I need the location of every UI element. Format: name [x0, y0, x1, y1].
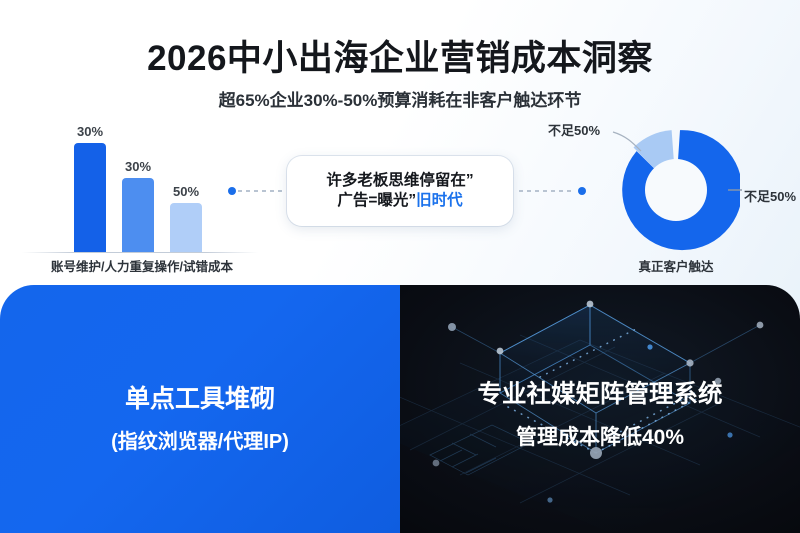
page-subtitle: 超65%企业30%-50%预算消耗在非客户触达环节 — [0, 86, 800, 111]
bar-chart: 30% 30% 50% — [24, 118, 254, 253]
bar-value-1: 30% — [77, 124, 103, 139]
donut-leader-lines — [600, 118, 800, 228]
callout-line-1: 许多老板思维停留在” — [326, 171, 473, 191]
bar-value-2: 30% — [125, 159, 151, 174]
callout-line-2-plain: 广告=曝光” — [337, 192, 416, 209]
callout-card: 许多老板思维停留在” 广告=曝光”旧时代 — [287, 156, 513, 226]
bar-chart-baseline — [22, 252, 258, 253]
bar-column-1: 30% — [74, 143, 106, 253]
donut-label-top-left: 不足50% — [548, 120, 600, 139]
bar-chart-axis-label: 账号维护/人力重复操作/试错成本 — [18, 256, 266, 275]
callout-line-2: 广告=曝光”旧时代 — [337, 191, 462, 211]
connector-dot-right — [578, 187, 586, 195]
bar-rect-3 — [170, 203, 202, 253]
panel-left-title: 单点工具堆砌 — [0, 379, 400, 415]
bar-rect-1 — [74, 143, 106, 253]
panel-right-title: 专业社媒矩阵管理系统 — [400, 375, 800, 410]
comparison-panels: 单点工具堆砌 (指纹浏览器/代理IP) — [0, 285, 800, 533]
bar-column-3: 50% — [170, 203, 202, 253]
bar-rect-2 — [122, 178, 154, 253]
donut-caption: 真正客户触达 — [588, 256, 764, 275]
panel-left-subtitle: (指纹浏览器/代理IP) — [0, 425, 400, 454]
panel-left: 单点工具堆砌 (指纹浏览器/代理IP) — [0, 285, 400, 533]
bar-column-2: 30% — [122, 178, 154, 253]
page-title: 2026中小出海企业营销成本洞察 — [0, 30, 800, 81]
connector-dot-left — [228, 187, 236, 195]
panel-right: 专业社媒矩阵管理系统 管理成本降低40% — [400, 285, 800, 533]
panel-right-subtitle: 管理成本降低40% — [400, 421, 800, 451]
poster-canvas: 2026中小出海企业营销成本洞察 超65%企业30%-50%预算消耗在非客户触达… — [0, 0, 800, 533]
donut-label-right: 不足50% — [744, 186, 796, 205]
leader-line-top — [613, 132, 641, 151]
callout-line-2-accent: 旧时代 — [416, 192, 463, 209]
connector-dash-left — [238, 190, 284, 192]
bar-value-3: 50% — [173, 184, 199, 199]
connector-dash-right — [519, 190, 573, 192]
